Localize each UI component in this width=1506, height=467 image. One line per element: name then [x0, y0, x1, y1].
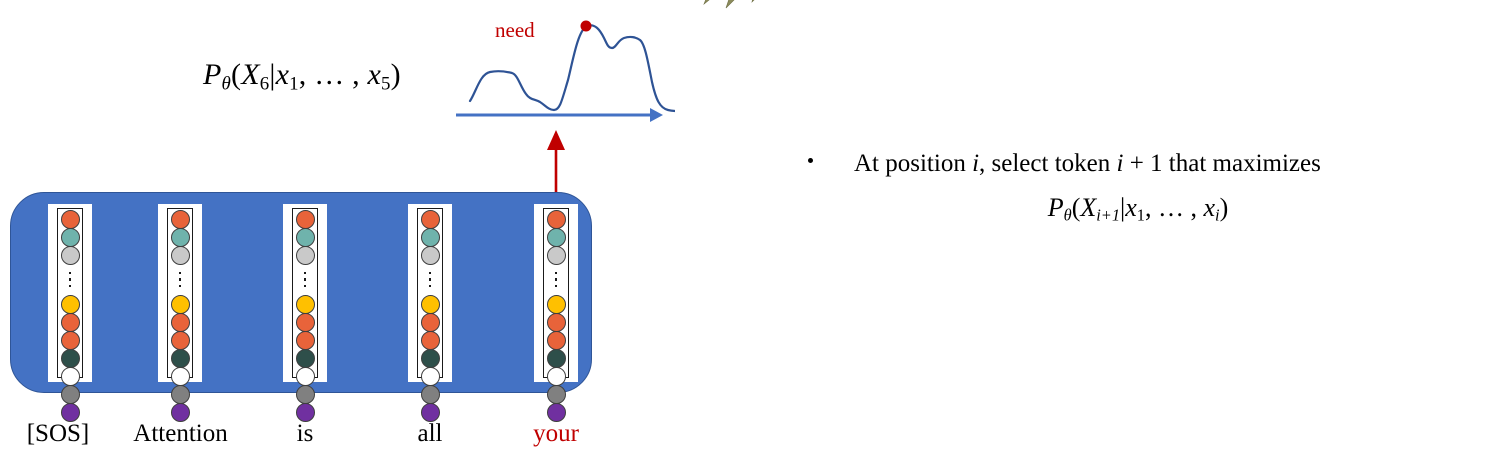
selected-token-marker — [581, 21, 592, 32]
embedding-stack-2 — [292, 208, 318, 378]
embedding-dot — [171, 313, 190, 332]
feather-quill-icon — [668, 0, 814, 22]
vertical-ellipsis-icon — [304, 264, 307, 295]
embedding-dot — [421, 367, 440, 386]
embedding-dot — [296, 246, 315, 265]
formula-x1-subscript: 1 — [289, 73, 299, 94]
formula-open-paren: ( — [231, 58, 241, 91]
embedding-dot — [171, 403, 190, 422]
formula-ellipsis: , … , — [299, 58, 368, 91]
objective-ellipsis: , … , — [1145, 193, 1204, 222]
token-column-0[interactable] — [48, 204, 92, 382]
embedding-dot — [421, 313, 440, 332]
embedding-dot — [547, 295, 566, 314]
embedding-dot — [421, 385, 440, 404]
embedding-dot — [547, 349, 566, 368]
embedding-dot — [547, 313, 566, 332]
need-token-label: need — [495, 18, 535, 43]
embedding-dot — [296, 349, 315, 368]
objective-x2: x — [1203, 193, 1215, 222]
objective-X: X — [1080, 193, 1096, 222]
objective-x1-subscript: 1 — [1137, 206, 1145, 225]
embedding-dot — [547, 228, 566, 247]
embedding-dot — [171, 246, 190, 265]
embedding-dot — [421, 403, 440, 422]
embedding-dot — [421, 349, 440, 368]
token-label-1: Attention — [108, 420, 253, 448]
embedding-dot — [296, 210, 315, 229]
formula-theta: θ — [222, 73, 231, 94]
bullet-text: At position i, select token i + 1 that m… — [854, 150, 1321, 178]
embedding-dot — [421, 295, 440, 314]
token-label-4: your — [520, 420, 592, 448]
embedding-stack-3 — [417, 208, 443, 378]
embedding-dot — [61, 367, 80, 386]
embedding-dot — [296, 331, 315, 350]
formula-P: P — [203, 58, 222, 91]
embedding-dot — [547, 385, 566, 404]
embedding-dot — [296, 295, 315, 314]
embedding-dot — [296, 403, 315, 422]
token-column-2[interactable] — [283, 204, 327, 382]
embedding-dot — [171, 331, 190, 350]
slide-canvas: Pθ(X6|x1, … , x5) need — [0, 0, 1506, 467]
embedding-dot — [61, 385, 80, 404]
token-column-1[interactable] — [158, 204, 202, 382]
objective-formula: Pθ(Xi+1|x1, … , xi) — [808, 193, 1468, 226]
probability-distribution-curve — [450, 0, 675, 125]
formula-x2: x — [368, 58, 382, 91]
embedding-stack-0 — [57, 208, 83, 378]
vertical-ellipsis-icon — [69, 264, 72, 295]
formula-X-subscript: 6 — [260, 73, 270, 94]
embedding-dot — [171, 385, 190, 404]
token-label-3: all — [395, 420, 465, 448]
embedding-dot — [296, 367, 315, 386]
token-label-2: is — [270, 420, 340, 448]
embedding-dot — [61, 313, 80, 332]
embedding-dot — [61, 295, 80, 314]
embedding-dot — [171, 367, 190, 386]
embedding-dot — [547, 210, 566, 229]
embedding-dot — [61, 210, 80, 229]
vertical-ellipsis-icon — [555, 264, 558, 295]
objective-P: P — [1048, 193, 1064, 222]
embedding-dot — [421, 331, 440, 350]
vertical-ellipsis-icon — [429, 264, 432, 295]
bullet-i-1: i — [972, 150, 979, 177]
bullet-text-part1: At position — [854, 150, 972, 177]
formula-x1: x — [276, 58, 290, 91]
next-token-distribution-formula: Pθ(X6|x1, … , x5) — [203, 58, 401, 95]
embedding-dot — [296, 228, 315, 247]
embedding-dot — [171, 228, 190, 247]
embedding-dot — [421, 246, 440, 265]
embedding-dot — [547, 246, 566, 265]
formula-X: X — [241, 58, 260, 91]
token-column-3[interactable] — [408, 204, 452, 382]
embedding-dot — [421, 210, 440, 229]
vertical-ellipsis-icon — [179, 264, 182, 295]
token-label-0: [SOS] — [18, 420, 98, 448]
embedding-stack-1 — [167, 208, 193, 378]
formula-x2-subscript: 5 — [381, 73, 391, 94]
objective-X-subscript: i+1 — [1096, 206, 1120, 225]
embedding-dot — [171, 210, 190, 229]
bullet-dot-icon — [808, 158, 813, 163]
embedding-dot — [547, 331, 566, 350]
embedding-stack-4 — [543, 208, 569, 378]
embedding-dot — [171, 349, 190, 368]
embedding-dot — [61, 246, 80, 265]
formula-close-paren: ) — [391, 58, 401, 91]
embedding-dot — [296, 385, 315, 404]
objective-close-paren: ) — [1220, 193, 1229, 222]
bullet-text-part2: , select token — [979, 150, 1116, 177]
embedding-dot — [547, 367, 566, 386]
token-column-4[interactable] — [534, 204, 578, 382]
embedding-dot — [171, 295, 190, 314]
embedding-dot — [61, 228, 80, 247]
objective-theta: θ — [1064, 206, 1072, 225]
embedding-dot — [296, 313, 315, 332]
vocabulary-axis-arrowhead — [650, 108, 663, 122]
bullet-text-part3: + 1 that maximizes — [1123, 150, 1320, 177]
embedding-dot — [61, 349, 80, 368]
embedding-dot — [61, 331, 80, 350]
embedding-dot — [61, 403, 80, 422]
embedding-dot — [547, 403, 566, 422]
embedding-dot — [421, 228, 440, 247]
objective-x1: x — [1125, 193, 1137, 222]
